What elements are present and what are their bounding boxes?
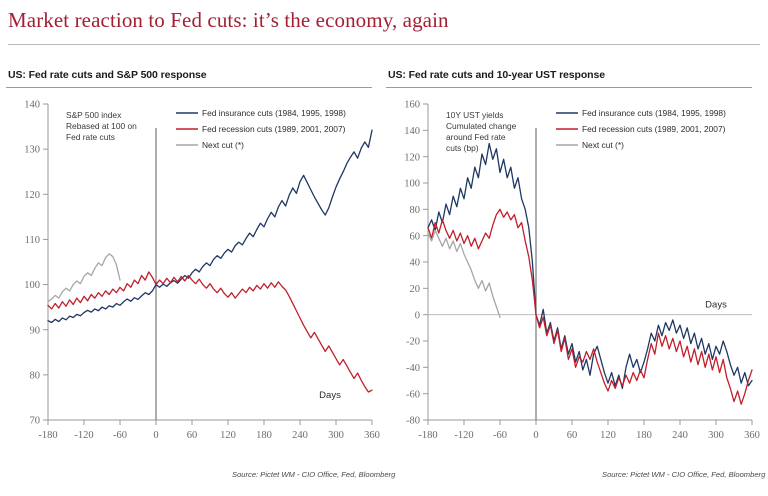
legend-label: Next cut (*) <box>202 140 244 150</box>
source-note-ust10y: Source: Pictet WM - CIO Office, Fed, Blo… <box>602 470 765 479</box>
y-tick-label: 80 <box>410 205 421 216</box>
x-tick-label: 0 <box>153 430 158 441</box>
plot-annotation-line: Rebased at 100 on <box>66 121 137 131</box>
legend-label: Fed insurance cuts (1984, 1995, 1998) <box>202 108 346 118</box>
y-tick-label: 90 <box>30 325 41 336</box>
series-line <box>428 144 752 389</box>
y-tick-label: -60 <box>406 389 420 400</box>
y-tick-label: 20 <box>410 284 421 295</box>
title-divider <box>8 44 760 45</box>
y-tick-label: 140 <box>24 100 40 111</box>
x-tick-label: 360 <box>364 430 380 441</box>
source-text-ust10y: Source: Pictet WM - CIO Office, Fed, Blo… <box>602 470 765 479</box>
y-tick-label: 40 <box>410 258 421 269</box>
panel-divider-ust10y <box>386 87 752 88</box>
x-tick-label: -180 <box>38 430 57 441</box>
y-tick-label: 60 <box>410 231 421 242</box>
x-tick-label: 240 <box>292 430 308 441</box>
x-tick-label: 180 <box>636 430 652 441</box>
x-tick-label: 240 <box>672 430 688 441</box>
x-tick-label: -180 <box>418 430 437 441</box>
series-line <box>48 272 372 392</box>
panel-title-sp500: US: Fed rate cuts and S&P 500 response <box>8 69 207 81</box>
plot-svg-ust10y: -80-60-40-20020406080100120140160-180-12… <box>382 90 760 462</box>
y-tick-label: 100 <box>24 280 40 291</box>
x-axis-days-label: Days <box>319 390 341 401</box>
plot-annotation-line: S&P 500 index <box>66 110 122 120</box>
plot-sp500: 708090100110120130140-180-120-6006012018… <box>2 90 380 462</box>
plot-annotation-line: around Fed rate <box>446 132 506 142</box>
legend-label: Fed recession cuts (1989, 2001, 2007) <box>582 124 726 134</box>
legend-label: Next cut (*) <box>582 140 624 150</box>
plot-annotation-line: 10Y UST yields <box>446 110 503 120</box>
plot-svg-sp500: 708090100110120130140-180-120-6006012018… <box>2 90 380 462</box>
plot-annotation-line: Cumulated change <box>446 121 517 131</box>
y-tick-label: -20 <box>406 337 420 348</box>
y-tick-label: 140 <box>404 126 420 137</box>
chart-page: Market reaction to Fed cuts: it’s the ec… <box>0 0 768 496</box>
x-tick-label: 120 <box>220 430 236 441</box>
y-tick-label: 130 <box>24 145 40 156</box>
x-tick-label: 180 <box>256 430 272 441</box>
x-tick-label: 0 <box>533 430 538 441</box>
x-axis-days-label: Days <box>705 300 727 311</box>
y-tick-label: 110 <box>25 235 40 246</box>
x-tick-label: -60 <box>113 430 127 441</box>
panel-divider-sp500 <box>6 87 372 88</box>
series-line <box>48 130 372 322</box>
x-tick-label: 300 <box>708 430 724 441</box>
panel-ust10y: US: Fed rate cuts and 10-year UST respon… <box>382 62 760 492</box>
y-tick-label: -80 <box>406 416 420 427</box>
plot-annotation-line: cuts (bp) <box>446 143 479 153</box>
y-tick-label: 100 <box>404 179 420 190</box>
y-tick-label: 120 <box>404 152 420 163</box>
x-tick-label: -120 <box>74 430 93 441</box>
panel-title-ust10y: US: Fed rate cuts and 10-year UST respon… <box>388 69 605 81</box>
x-tick-label: 300 <box>328 430 344 441</box>
legend-label: Fed recession cuts (1989, 2001, 2007) <box>202 124 346 134</box>
legend-label: Fed insurance cuts (1984, 1995, 1998) <box>582 108 726 118</box>
x-tick-label: -120 <box>454 430 473 441</box>
y-tick-label: 120 <box>24 190 40 201</box>
source-text-sp500: Source: Pictet WM - CIO Office, Fed, Blo… <box>232 470 395 479</box>
y-tick-label: 70 <box>30 416 41 427</box>
x-tick-label: 120 <box>600 430 616 441</box>
y-tick-label: 80 <box>30 370 41 381</box>
page-title: Market reaction to Fed cuts: it’s the ec… <box>8 8 449 33</box>
x-tick-label: 360 <box>744 430 760 441</box>
source-note-sp500: Source: Pictet WM - CIO Office, Fed, Blo… <box>232 470 395 479</box>
y-tick-label: 0 <box>415 310 420 321</box>
y-tick-label: -40 <box>406 363 420 374</box>
x-tick-label: -60 <box>493 430 507 441</box>
plot-annotation-line: Fed rate cuts <box>66 132 115 142</box>
panel-sp500: US: Fed rate cuts and S&P 500 response 7… <box>2 62 380 492</box>
y-tick-label: 160 <box>404 100 420 111</box>
x-tick-label: 60 <box>567 430 578 441</box>
plot-ust10y: -80-60-40-20020406080100120140160-180-12… <box>382 90 760 462</box>
x-tick-label: 60 <box>187 430 198 441</box>
